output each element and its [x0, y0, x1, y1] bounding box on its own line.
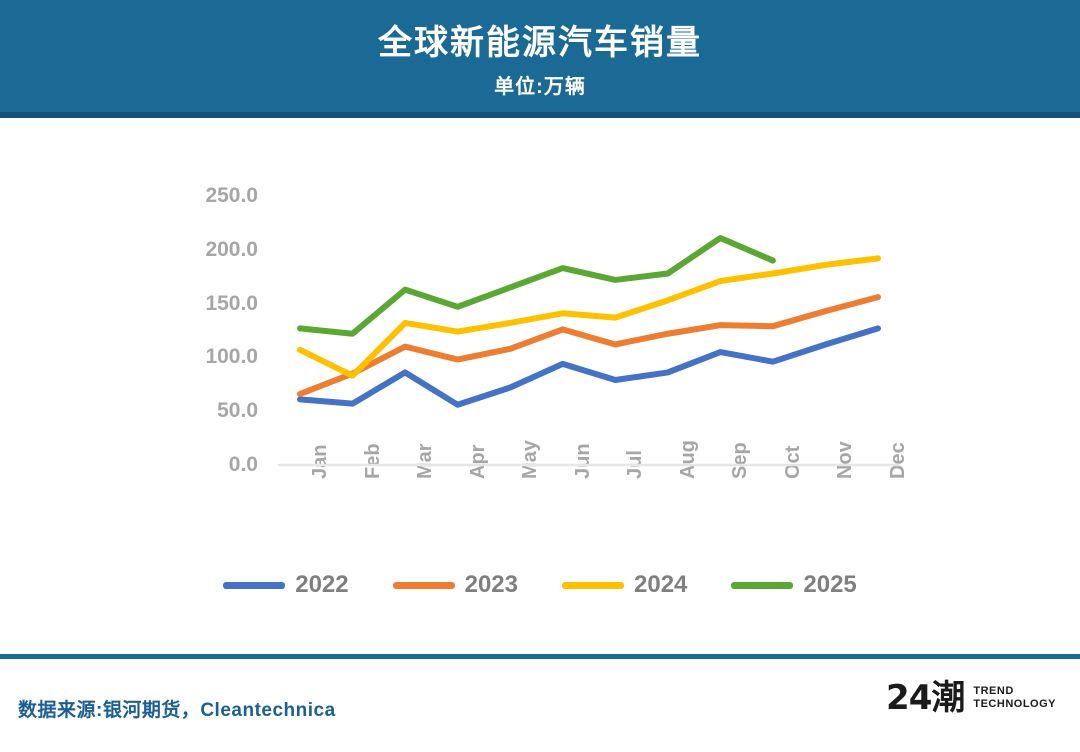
- footer: 数据来源:银河期货，Cleantechnica 24潮 TREND TECHNO…: [0, 659, 1080, 752]
- legend-swatch-icon: [223, 582, 285, 589]
- brand-logo: 24潮 TREND TECHNOLOGY: [886, 681, 1056, 715]
- chart-legend: 2022202320242025: [0, 573, 1080, 597]
- brand-wordmark: TREND TECHNOLOGY: [973, 685, 1056, 711]
- page-title: 全球新能源汽车销量: [0, 22, 1080, 64]
- legend-item-2025[interactable]: 2025: [731, 573, 856, 597]
- brand-line-1: TREND: [973, 685, 1056, 698]
- legend-swatch-icon: [562, 582, 624, 589]
- legend-item-2023[interactable]: 2023: [393, 573, 518, 597]
- legend-item-2024[interactable]: 2024: [562, 573, 687, 597]
- brand-mark-icon: 24潮: [886, 681, 964, 715]
- data-source-label: 数据来源:银河期货，Cleantechnica: [18, 695, 336, 722]
- legend-label: 2025: [803, 573, 856, 597]
- page-subtitle: 单位:万辆: [0, 74, 1080, 100]
- legend-swatch-icon: [731, 582, 793, 589]
- legend-swatch-icon: [393, 582, 455, 589]
- legend-item-2022[interactable]: 2022: [223, 573, 348, 597]
- series-layer: [300, 238, 878, 405]
- legend-label: 2022: [295, 573, 348, 597]
- chart-container: 0.050.0100.0150.0200.0250.0 JanFebMarApr…: [0, 118, 1080, 646]
- legend-label: 2024: [634, 573, 687, 597]
- chart-plot-svg: [0, 118, 1080, 646]
- legend-label: 2023: [465, 573, 518, 597]
- header-banner: 全球新能源汽车销量 单位:万辆: [0, 0, 1080, 118]
- brand-line-2: TECHNOLOGY: [973, 698, 1056, 711]
- slide-root: 全球新能源汽车销量 单位:万辆 0.050.0100.0150.0200.025…: [0, 0, 1080, 752]
- line-chart: 0.050.0100.0150.0200.0250.0 JanFebMarApr…: [0, 118, 1080, 646]
